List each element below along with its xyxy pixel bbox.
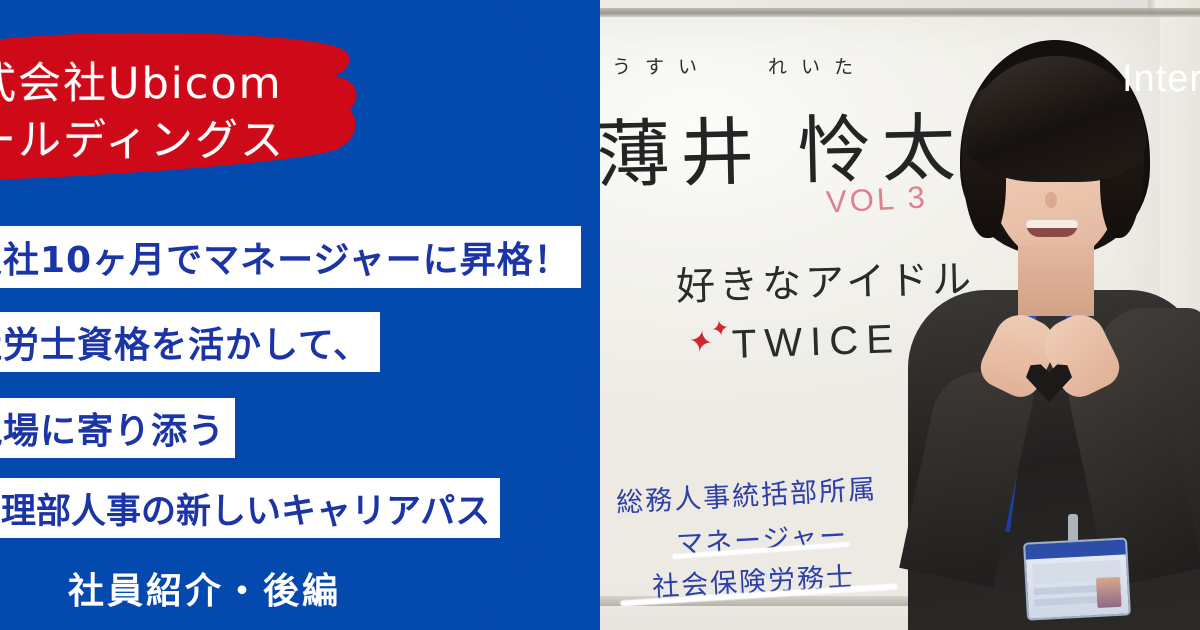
badge-photo: [1096, 577, 1122, 608]
nose: [1045, 192, 1057, 208]
headline-bar-3: 現場に寄り添う: [0, 398, 235, 458]
furigana-family-name: うすい: [612, 52, 711, 79]
whiteboard-top-rail: [500, 8, 1200, 17]
sparkle-icon: ✦: [709, 317, 731, 342]
headline-bar-1: 入社10ヶ月でマネージャーに昇格！: [0, 226, 581, 288]
headline-text-2: 社労士資格を活かして、: [0, 316, 370, 368]
furigana-given-name: れいた: [768, 52, 867, 79]
employee-id-badge: [1023, 537, 1131, 620]
mouth: [1026, 220, 1078, 237]
subject-portrait: [900, 40, 1200, 630]
headline-text-3: 現場に寄り添う: [0, 402, 225, 454]
interview-label: Inter: [1122, 58, 1200, 101]
brand-line-1: 株式会社Ubicom: [0, 56, 450, 113]
neck: [1018, 246, 1094, 316]
series-subtitle: 社員紹介・後編: [68, 562, 341, 614]
thumbnail-banner: うすい れいた 薄井 怜太 VOL 3 好きなアイドル ✦ ✦ TWICE 総務…: [0, 0, 1200, 630]
headline-bar-2: 社労士資格を活かして、: [0, 312, 380, 372]
headline-text-4: 管理部人事の新しいキャリアパス: [0, 483, 490, 534]
headline-text-1: 入社10ヶ月でマネージャーに昇格！: [0, 231, 571, 283]
whiteboard-favorite-value: TWICE: [731, 317, 901, 368]
brand-banner-text: 株式会社Ubicom ホールディングス: [0, 18, 450, 208]
brand-line-2: ホールディングス: [0, 113, 450, 170]
headline-bar-4: 管理部人事の新しいキャリアパス: [0, 478, 500, 538]
